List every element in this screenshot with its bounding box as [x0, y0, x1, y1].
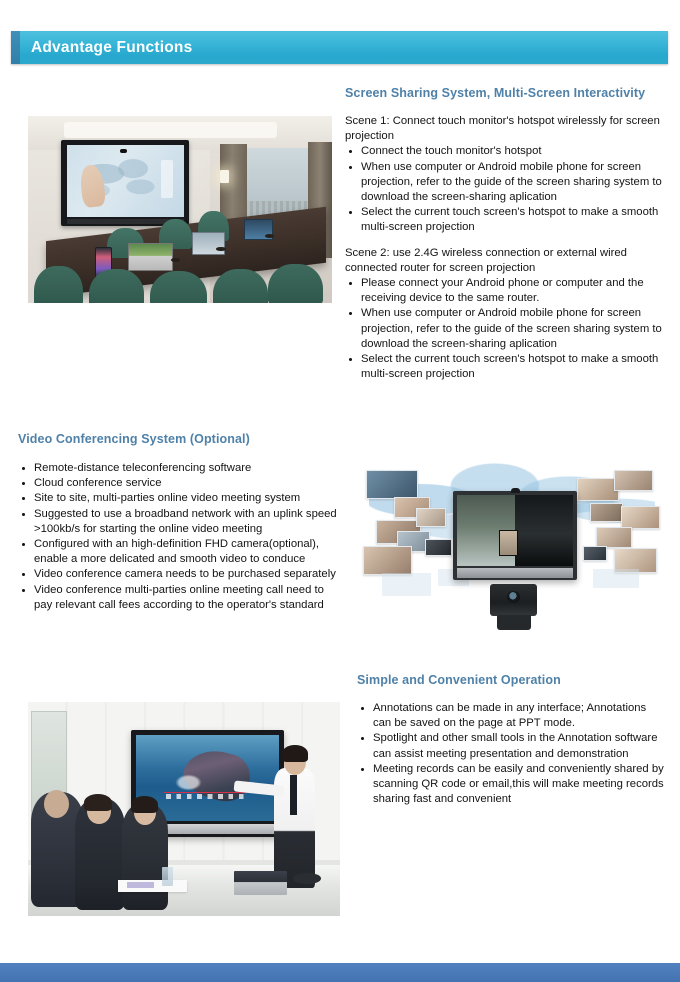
- footer-bar: [0, 963, 680, 982]
- list-item: Remote-distance teleconferencing softwar…: [18, 461, 340, 476]
- list-item: Please connect your Android phone or com…: [345, 276, 667, 306]
- conference-speakerphone: [293, 873, 321, 884]
- microphone-1: [171, 258, 180, 262]
- display-bottom-bezel: [457, 568, 574, 578]
- scene2-intro: Scene 2: use 2.4G wireless connection or…: [345, 246, 667, 276]
- annotation-marks: [164, 792, 247, 802]
- attendee-3-hair: [131, 796, 158, 813]
- participant-thumbnail: [425, 539, 452, 556]
- chair-near-1: [34, 266, 83, 303]
- attendee-2-hair: [84, 794, 112, 811]
- page-canvas: Advantage Functions: [0, 0, 680, 982]
- list-item: Select the current touch screen's hotspo…: [345, 205, 667, 235]
- list-item: Connect the touch monitor's hotspot: [345, 144, 667, 159]
- water-spray-graphic: [173, 773, 205, 792]
- screen-side-panel: [161, 160, 174, 198]
- list-item: When use computer or Android mobile phon…: [345, 306, 667, 352]
- list-item: Video conference multi-parties online me…: [18, 583, 340, 613]
- display-screen: [67, 145, 184, 217]
- laptop-device: [234, 871, 287, 895]
- microphone-3: [265, 234, 274, 238]
- interactive-display: [61, 140, 189, 226]
- simple-operation-text: Annotations can be made in any interface…: [357, 701, 667, 807]
- header-left-cap: [11, 31, 20, 64]
- list-item: Suggested to use a broadband network wit…: [18, 507, 340, 537]
- list-item: Configured with an high-definition FHD c…: [18, 537, 340, 567]
- screen-sharing-text: Scene 1: Connect touch monitor's hotspot…: [345, 114, 667, 382]
- tablet-device-1: [192, 232, 224, 255]
- wall-sconce: [220, 170, 229, 183]
- ceiling-recess: [64, 122, 277, 139]
- list-item: Meeting records can be easily and conven…: [357, 762, 667, 808]
- participant-thumbnail: [621, 506, 660, 529]
- call-feed-pip: [499, 530, 518, 555]
- webcam-base: [497, 615, 531, 630]
- list-item: Select the current touch screen's hotspo…: [345, 352, 667, 382]
- participant-thumbnail: [614, 470, 653, 491]
- attendee-1-head: [44, 790, 69, 818]
- participant-thumbnail: [366, 470, 418, 499]
- participant-thumbnail: [583, 546, 607, 561]
- presenter-hair: [282, 745, 308, 762]
- list-item: Cloud conference service: [18, 476, 340, 491]
- microphone-2: [216, 247, 225, 251]
- list-item: Annotations can be made in any interface…: [357, 701, 667, 731]
- list-item: When use computer or Android mobile phon…: [345, 160, 667, 206]
- chair-near-2: [89, 269, 144, 303]
- video-conference-photo: [357, 455, 667, 645]
- simple-operation-bullet-list: Annotations can be made in any interface…: [357, 701, 667, 807]
- list-item: Site to site, multi-parties online video…: [18, 491, 340, 506]
- simple-operation-heading: Simple and Convenient Operation: [357, 673, 561, 687]
- chair-near-4: [213, 269, 268, 303]
- thumbnail-reflection: [593, 569, 640, 588]
- thumbnail-reflection: [382, 573, 432, 596]
- conference-room-photo: [28, 116, 332, 303]
- presentation-photo: [28, 702, 340, 916]
- chair-near-5: [268, 264, 323, 303]
- page-title: Advantage Functions: [31, 31, 192, 64]
- laptop-device: [128, 243, 173, 271]
- webcam-device: [490, 584, 537, 616]
- scene1-bullet-list: Connect the touch monitor's hotspot When…: [345, 144, 667, 235]
- list-item: Video conference camera needs to be purc…: [18, 567, 340, 582]
- display-camera-icon: [511, 488, 520, 493]
- screen-sharing-heading: Screen Sharing System, Multi-Screen Inte…: [345, 86, 645, 100]
- presenter-tie: [290, 775, 297, 816]
- participant-thumbnail: [363, 546, 412, 575]
- video-conferencing-heading: Video Conferencing System (Optional): [18, 432, 250, 446]
- participant-thumbnail: [590, 503, 623, 522]
- section-header-banner: Advantage Functions: [11, 31, 668, 64]
- list-item: Spotlight and other small tools in the A…: [357, 731, 667, 761]
- participant-thumbnail: [416, 508, 446, 527]
- call-feed-right: [515, 495, 573, 566]
- video-conferencing-bullet-list: Remote-distance teleconferencing softwar…: [18, 461, 340, 613]
- scene1-intro: Scene 1: Connect touch monitor's hotspot…: [345, 114, 667, 144]
- video-conferencing-text: Remote-distance teleconferencing softwar…: [18, 461, 340, 613]
- participant-thumbnail: [596, 527, 632, 548]
- scene2-bullet-list: Please connect your Android phone or com…: [345, 276, 667, 382]
- video-call-display: [453, 491, 577, 580]
- water-glass: [162, 867, 173, 886]
- participant-thumbnail: [577, 478, 619, 501]
- paragraph-gap: [345, 236, 667, 246]
- display-camera-icon: [120, 149, 126, 152]
- papers-on-table: [118, 880, 187, 893]
